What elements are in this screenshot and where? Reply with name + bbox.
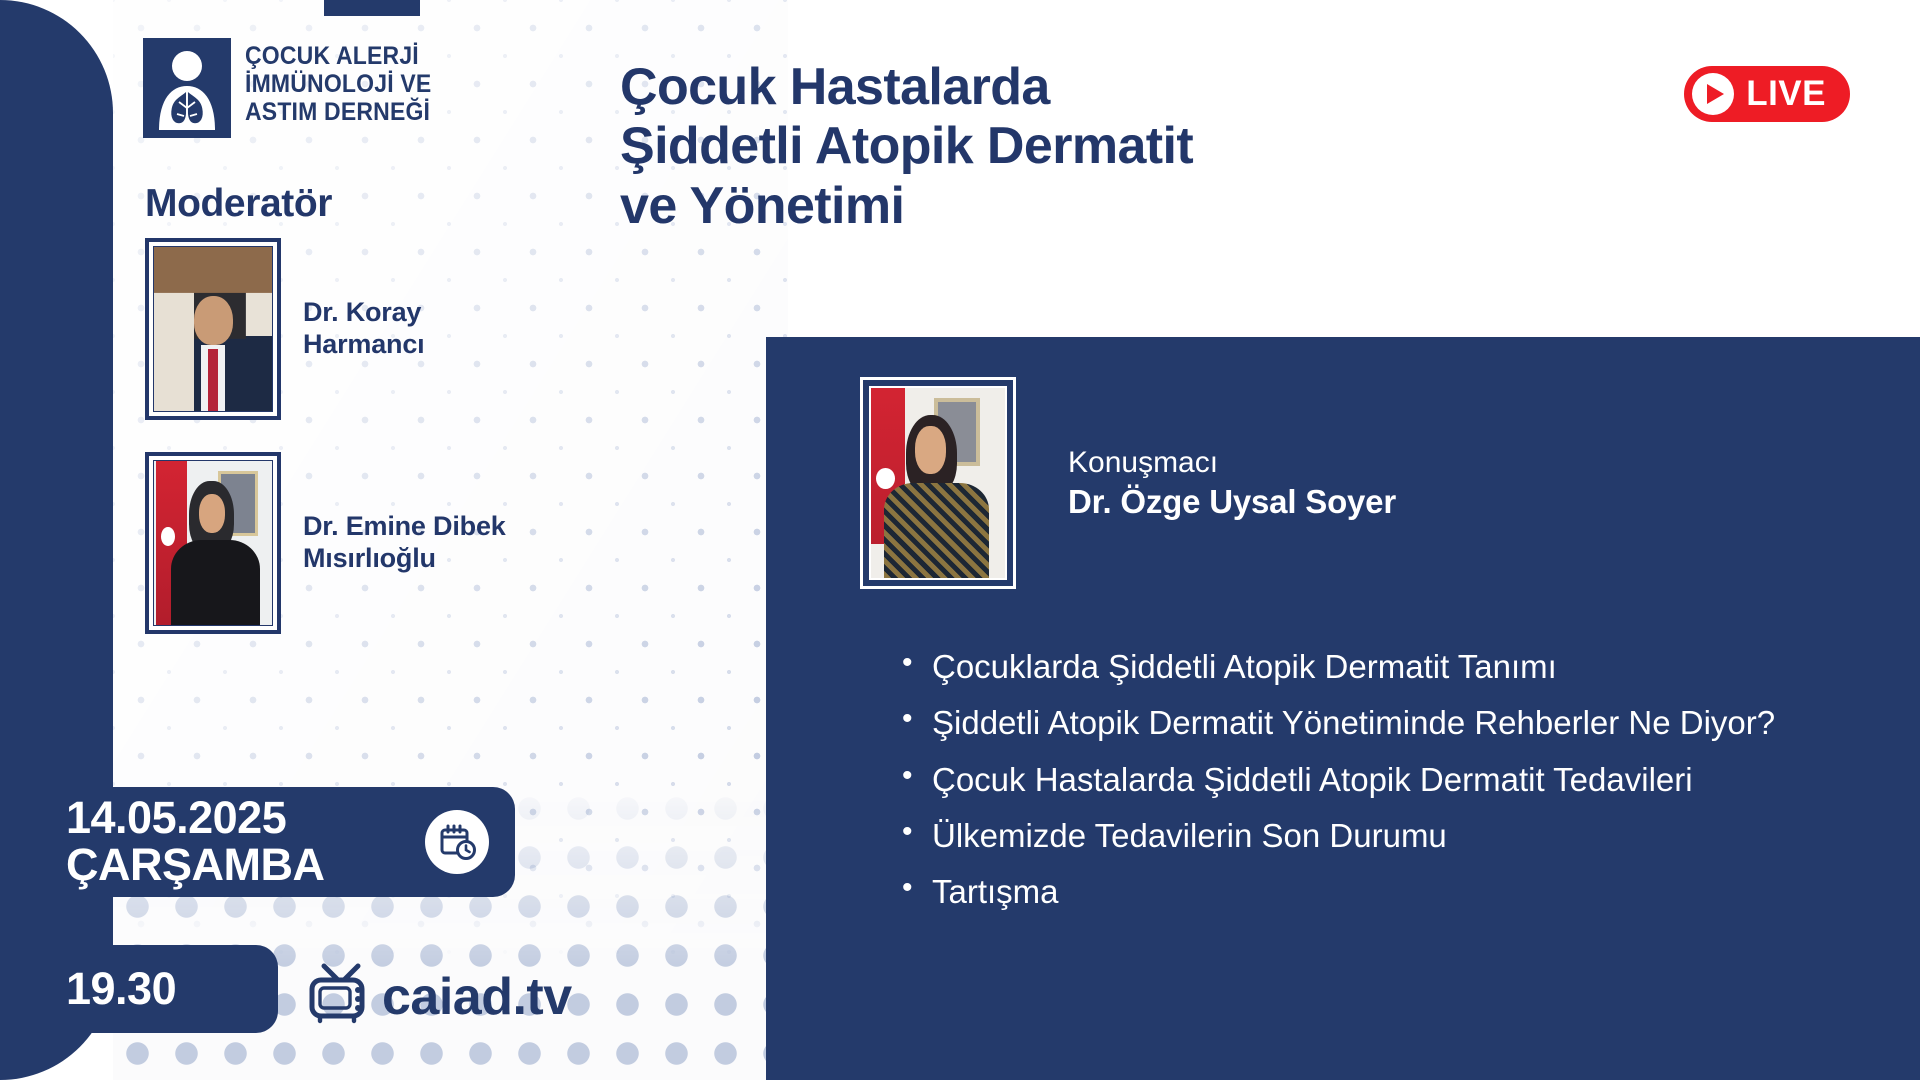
topics-list: Çocuklarda Şiddetli Atopik Dermatit Tanı… (898, 647, 1860, 928)
moderator-heading: Moderatör (145, 182, 332, 226)
moderator-2-name: Dr. Emine Dibek Mısırlıoğlu (303, 511, 506, 575)
list-item: Ülkemizde Tedavilerin Son Durumu (898, 816, 1860, 856)
moderator-2-photo (145, 452, 281, 634)
live-label: LIVE (1746, 74, 1826, 114)
moderator-1: Dr. Koray Harmancı (145, 238, 424, 420)
webinar-poster: ÇOCUK ALERJİ İMMÜNOLOJİ VE ASTIM DERNEĞİ… (0, 0, 1920, 1080)
calendar-clock-icon (425, 810, 489, 874)
event-time: 19.30 (66, 963, 176, 1015)
moderator-2: Dr. Emine Dibek Mısırlıoğlu (145, 452, 506, 634)
speaker-block: Konuşmacı Dr. Özge Uysal Soyer (860, 377, 1396, 589)
list-item: Çocuk Hastalarda Şiddetli Atopik Dermati… (898, 760, 1860, 800)
event-date: 14.05.2025 ÇARŞAMBA (66, 795, 325, 889)
lungs-person-icon (143, 38, 231, 138)
website-row[interactable]: caiad.tv (308, 963, 572, 1030)
moderator-1-photo (145, 238, 281, 420)
left-edge-bar (0, 0, 113, 1080)
logo-wordmark: ÇOCUK ALERJİ İMMÜNOLOJİ VE ASTIM DERNEĞİ (245, 38, 431, 126)
page-title: Çocuk Hastalarda Şiddetli Atopik Dermati… (620, 58, 1580, 236)
top-accent-chip (324, 0, 420, 16)
website-label[interactable]: caiad.tv (382, 967, 572, 1027)
date-badge: 14.05.2025 ÇARŞAMBA (0, 787, 515, 897)
play-circle-icon (1692, 73, 1734, 115)
live-badge[interactable]: LIVE (1684, 66, 1850, 122)
association-logo: ÇOCUK ALERJİ İMMÜNOLOJİ VE ASTIM DERNEĞİ (143, 38, 448, 138)
speaker-photo (860, 377, 1016, 589)
list-item: Tartışma (898, 872, 1860, 912)
retro-tv-icon (308, 963, 374, 1030)
time-badge: 19.30 (0, 945, 278, 1033)
speaker-role: Konuşmacı (1068, 444, 1396, 482)
list-item: Çocuklarda Şiddetli Atopik Dermatit Tanı… (898, 647, 1860, 687)
list-item: Şiddetli Atopik Dermatit Yönetiminde Reh… (898, 703, 1860, 743)
speaker-panel: Konuşmacı Dr. Özge Uysal Soyer Çocuklard… (766, 337, 1920, 1080)
speaker-name: Dr. Özge Uysal Soyer (1068, 481, 1396, 522)
moderator-1-name: Dr. Koray Harmancı (303, 297, 424, 361)
